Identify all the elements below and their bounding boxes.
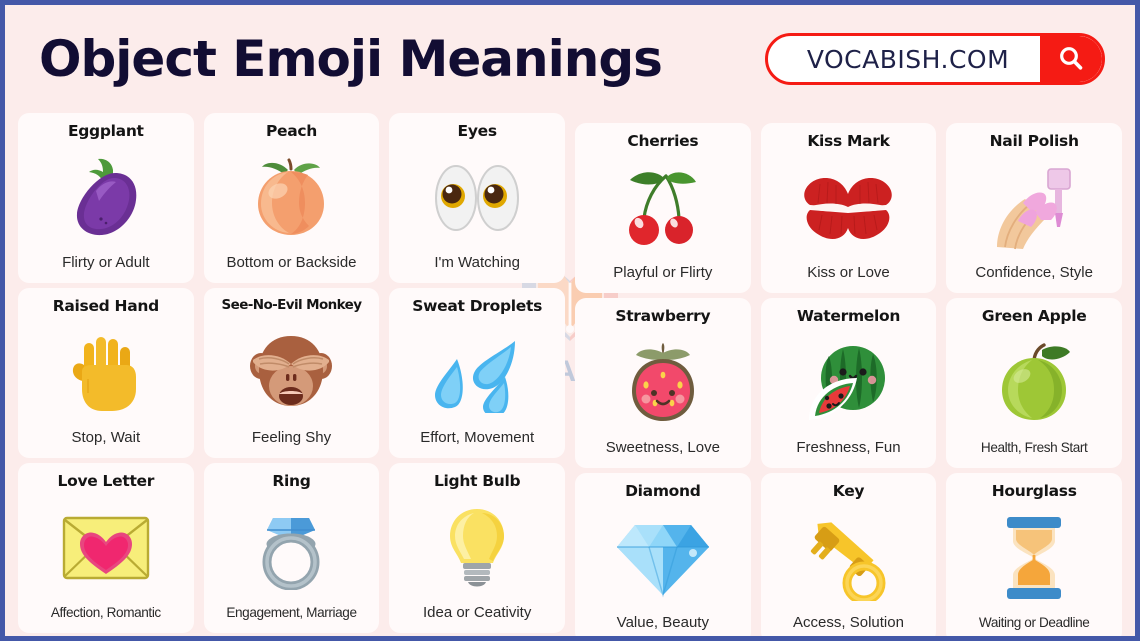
card-meaning: I'm Watching <box>434 255 520 272</box>
hourglass-emoji <box>952 501 1116 616</box>
card-meaning: Waiting or Deadline <box>979 616 1090 631</box>
eyes-emoji <box>395 141 559 255</box>
emoji-card-raised-hand[interactable]: Raised Hand Stop, Wait <box>18 288 194 458</box>
nail-polish-emoji <box>952 151 1116 265</box>
peach-emoji <box>210 141 374 255</box>
love-letter-emoji <box>24 491 188 606</box>
emoji-card-green-apple[interactable]: Green Apple Health, Fresh Start <box>946 298 1122 468</box>
emoji-card-grid: Eggplant Flirty or Adult Peach <box>18 113 1122 633</box>
emoji-card-ring[interactable]: Ring Engagement, Marriage <box>204 463 380 633</box>
emoji-card-hourglass[interactable]: Hourglass Waiting or Deadline <box>946 473 1122 641</box>
key-emoji <box>767 501 931 615</box>
emoji-card-light-bulb[interactable]: Light Bulb Idea or Ceativity <box>389 463 565 633</box>
eggplant-emoji <box>24 141 188 255</box>
website-search-badge[interactable]: VOCABISH.COM <box>765 33 1105 85</box>
card-meaning: Idea or Ceativity <box>423 605 531 622</box>
card-title: Diamond <box>625 483 700 501</box>
card-title: Nail Polish <box>990 133 1079 151</box>
header: Object Emoji Meanings VOCABISH.COM <box>5 5 1135 113</box>
card-meaning: Confidence, Style <box>975 265 1093 282</box>
card-title: Key <box>833 483 864 501</box>
search-icon <box>1056 44 1086 74</box>
page-title: Object Emoji Meanings <box>39 34 662 84</box>
card-meaning: Feeling Shy <box>252 430 331 447</box>
card-meaning: Affection, Romantic <box>51 606 161 621</box>
card-meaning: Playful or Flirty <box>613 265 712 282</box>
card-meaning: Freshness, Fun <box>796 440 900 457</box>
card-title: Peach <box>266 123 317 141</box>
card-meaning: Health, Fresh Start <box>981 441 1087 456</box>
emoji-card-key[interactable]: Key Access, Solution <box>761 473 937 641</box>
card-meaning: Bottom or Backside <box>226 255 356 272</box>
card-title: Ring <box>272 473 310 491</box>
card-title: Eyes <box>458 123 497 141</box>
card-title: Kiss Mark <box>807 133 889 151</box>
card-meaning: Value, Beauty <box>617 615 709 632</box>
card-title: See-No-Evil Monkey <box>222 298 362 314</box>
emoji-card-kiss-mark[interactable]: Kiss Mark Kiss or Love <box>761 123 937 293</box>
green-apple-emoji <box>952 326 1116 441</box>
card-meaning: Kiss or Love <box>807 265 890 282</box>
emoji-card-love-letter[interactable]: Love Letter Affection, Romantic <box>18 463 194 633</box>
card-title: Hourglass <box>992 483 1077 501</box>
card-title: Watermelon <box>797 308 900 326</box>
emoji-card-watermelon[interactable]: Watermelon <box>761 298 937 468</box>
infographic-poster: VOCABISH Object Emoji Meanings VOCABISH.… <box>0 0 1140 641</box>
card-title: Raised Hand <box>53 298 159 316</box>
card-title: Sweat Droplets <box>412 298 542 316</box>
kiss-mark-emoji <box>767 151 931 265</box>
diamond-emoji <box>581 501 745 615</box>
card-meaning: Sweetness, Love <box>606 440 720 457</box>
emoji-card-cherries[interactable]: Cherries Playful or Flirty <box>575 123 751 293</box>
emoji-card-peach[interactable]: Peach Bottom or Backside <box>204 113 380 283</box>
emoji-card-strawberry[interactable]: Strawberry <box>575 298 751 468</box>
emoji-card-eyes[interactable]: Eyes I'm Watching <box>389 113 565 283</box>
card-title: Cherries <box>627 133 698 151</box>
watermelon-emoji <box>767 326 931 440</box>
ring-emoji <box>210 491 374 606</box>
raised-hand-emoji <box>24 316 188 430</box>
search-button[interactable] <box>1040 36 1102 82</box>
card-title: Green Apple <box>982 308 1087 326</box>
emoji-card-eggplant[interactable]: Eggplant Flirty or Adult <box>18 113 194 283</box>
light-bulb-emoji <box>395 491 559 605</box>
emoji-card-diamond[interactable]: Diamond Value, Beauty <box>575 473 751 641</box>
website-domain-label: VOCABISH.COM <box>768 36 1040 82</box>
card-meaning: Engagement, Marriage <box>226 606 356 621</box>
emoji-card-sweat-droplets[interactable]: Sweat Droplets Effort, Movement <box>389 288 565 458</box>
card-title: Eggplant <box>68 123 144 141</box>
see-no-evil-monkey-emoji <box>210 314 374 430</box>
card-title: Strawberry <box>615 308 710 326</box>
card-meaning: Effort, Movement <box>420 430 534 447</box>
emoji-card-see-no-evil-monkey[interactable]: See-No-Evil Monkey <box>204 288 380 458</box>
cherries-emoji <box>581 151 745 265</box>
card-title: Love Letter <box>58 473 155 491</box>
card-title: Light Bulb <box>434 473 520 491</box>
card-meaning: Access, Solution <box>793 615 904 632</box>
sweat-droplets-emoji <box>395 316 559 430</box>
card-meaning: Flirty or Adult <box>62 255 150 272</box>
emoji-card-nail-polish[interactable]: Nail Polish Confidence, Style <box>946 123 1122 293</box>
strawberry-emoji <box>581 326 745 440</box>
card-meaning: Stop, Wait <box>72 430 141 447</box>
